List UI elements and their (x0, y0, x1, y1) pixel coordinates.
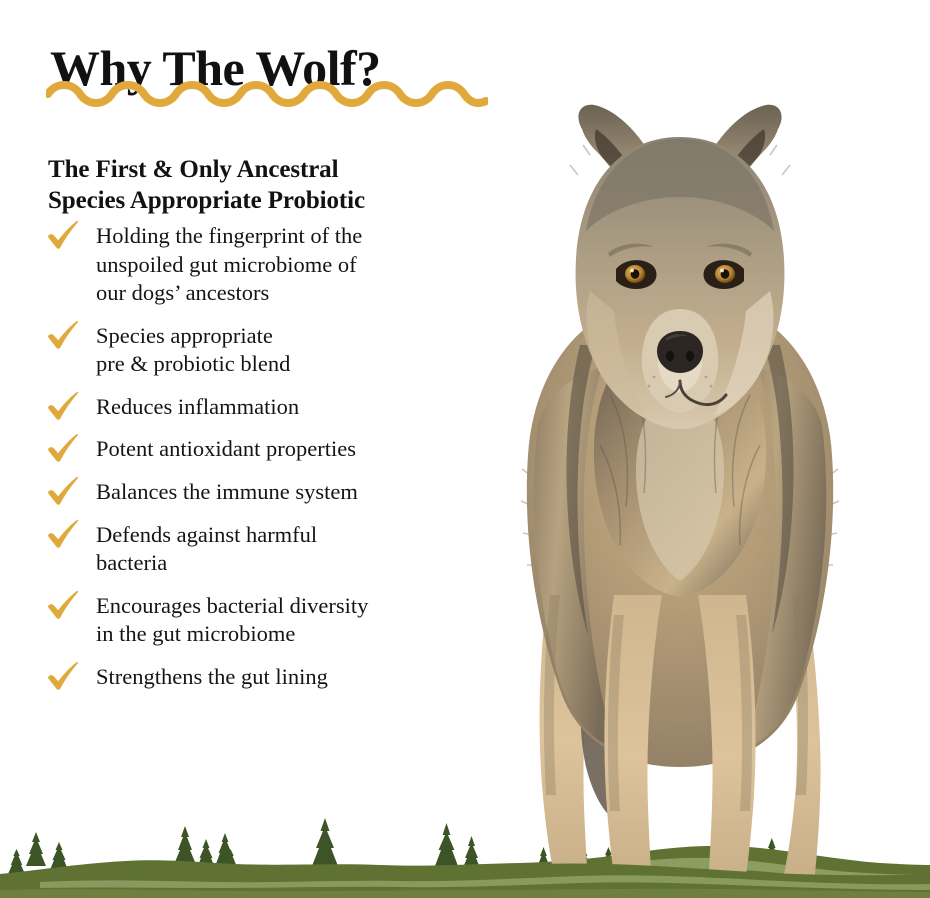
benefit-line: our dogs’ ancestors (96, 279, 504, 308)
check-icon (46, 220, 80, 250)
benefit-text: Strengthens the gut lining (96, 663, 504, 692)
benefit-line: Holding the fingerprint of the (96, 222, 504, 251)
benefit-text: Encourages bacterial diversityin the gut… (96, 592, 504, 649)
check-icon (46, 391, 80, 421)
benefit-item: Encourages bacterial diversityin the gut… (44, 592, 504, 649)
benefit-item: Reduces inflammation (44, 393, 504, 422)
benefit-item: Defends against harmfulbacteria (44, 521, 504, 578)
benefit-line: pre & probiotic blend (96, 350, 504, 379)
benefit-line: bacteria (96, 549, 504, 578)
wolf-nose (657, 331, 703, 373)
benefit-item: Species appropriatepre & probiotic blend (44, 322, 504, 379)
benefit-line: Reduces inflammation (96, 393, 504, 422)
benefit-text: Potent antioxidant properties (96, 435, 504, 464)
benefit-text: Defends against harmfulbacteria (96, 521, 504, 578)
subtitle-line-2: Species Appropriate Probiotic (48, 185, 498, 216)
benefits-list: Holding the fingerprint of theunspoiled … (44, 222, 504, 705)
page-subtitle: The First & Only Ancestral Species Appro… (48, 154, 498, 217)
benefit-item: Holding the fingerprint of theunspoiled … (44, 222, 504, 308)
infographic-canvas: Why The Wolf? The First & Only Ancestral… (0, 0, 930, 898)
wolf-photo (430, 95, 930, 898)
benefit-text: Holding the fingerprint of theunspoiled … (96, 222, 504, 308)
benefit-line: Encourages bacterial diversity (96, 592, 504, 621)
benefit-line: unspoiled gut microbiome of (96, 251, 504, 280)
wolf-nostril-right (686, 351, 694, 362)
benefit-item: Balances the immune system (44, 478, 504, 507)
check-icon (46, 476, 80, 506)
wavy-line-divider (46, 80, 488, 112)
wolf-eye-left (616, 260, 657, 289)
benefit-item: Strengthens the gut lining (44, 663, 504, 692)
benefit-item: Potent antioxidant properties (44, 435, 504, 464)
benefit-line: Potent antioxidant properties (96, 435, 504, 464)
check-icon (46, 320, 80, 350)
wolf-eye-right (704, 260, 745, 289)
benefit-text: Species appropriatepre & probiotic blend (96, 322, 504, 379)
benefit-line: Defends against harmful (96, 521, 504, 550)
benefit-line: Balances the immune system (96, 478, 504, 507)
benefit-line: Strengthens the gut lining (96, 663, 504, 692)
check-icon (46, 590, 80, 620)
subtitle-line-1: The First & Only Ancestral (48, 154, 498, 185)
benefit-text: Balances the immune system (96, 478, 504, 507)
check-icon (46, 519, 80, 549)
wolf-nostril-left (666, 351, 674, 362)
check-icon (46, 433, 80, 463)
benefit-line: in the gut microbiome (96, 620, 504, 649)
content-column: Why The Wolf? The First & Only Ancestral… (0, 0, 500, 898)
benefit-line: Species appropriate (96, 322, 504, 351)
check-icon (46, 661, 80, 691)
benefit-text: Reduces inflammation (96, 393, 504, 422)
